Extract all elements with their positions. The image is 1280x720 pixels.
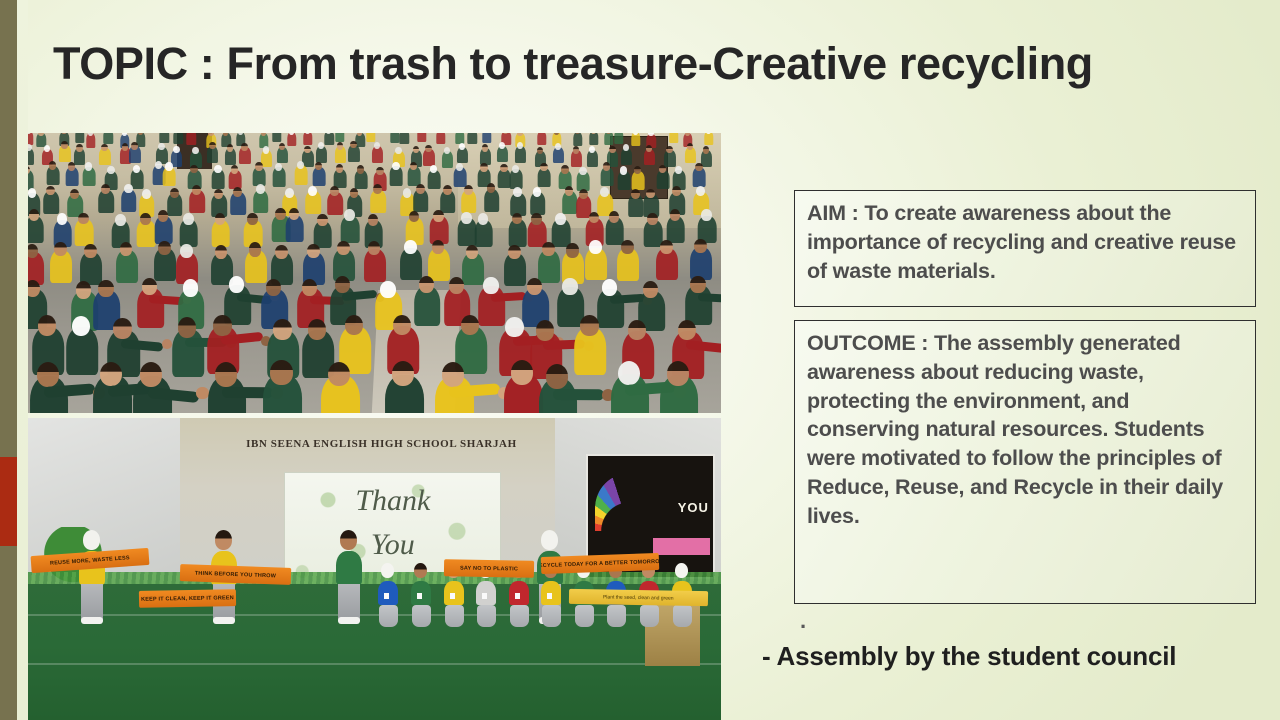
left-orange-accent-block <box>0 457 17 546</box>
slide-canvas: TOPIC : From trash to treasure-Creative … <box>0 0 1280 720</box>
outcome-textbox: OUTCOME : The assembly generated awarene… <box>794 320 1256 604</box>
bullet-dot: . <box>800 608 806 634</box>
board-you-text: YOU <box>678 500 709 515</box>
awareness-banner: SAY NO TO PLASTIC <box>444 559 534 578</box>
slide-caption: - Assembly by the student council <box>762 641 1176 672</box>
turf-line <box>28 663 721 665</box>
student-crowd <box>28 133 721 413</box>
photo-assembly-crowd <box>28 133 721 413</box>
left-cream-strip <box>17 0 28 720</box>
page-title: TOPIC : From trash to treasure-Creative … <box>53 38 1233 90</box>
awareness-banner: Plant the seed, clean and green <box>568 589 707 606</box>
board-pink-strip <box>653 538 710 555</box>
awareness-banner: KEEP IT CLEAN, KEEP IT GREEN <box>139 589 236 608</box>
left-accent-bar <box>0 0 17 720</box>
rainbow-icon <box>595 473 665 531</box>
thank-you-line-2: You <box>285 531 500 560</box>
thank-you-line-1: Thank <box>285 487 500 516</box>
school-name-banner: IBN SEENA ENGLISH HIGH SCHOOL SHARJAH <box>180 438 582 450</box>
photo-stage-council: IBN SEENA ENGLISH HIGH SCHOOL SHARJAH Th… <box>28 418 721 720</box>
aim-textbox: AIM : To create awareness about the impo… <box>794 190 1256 307</box>
